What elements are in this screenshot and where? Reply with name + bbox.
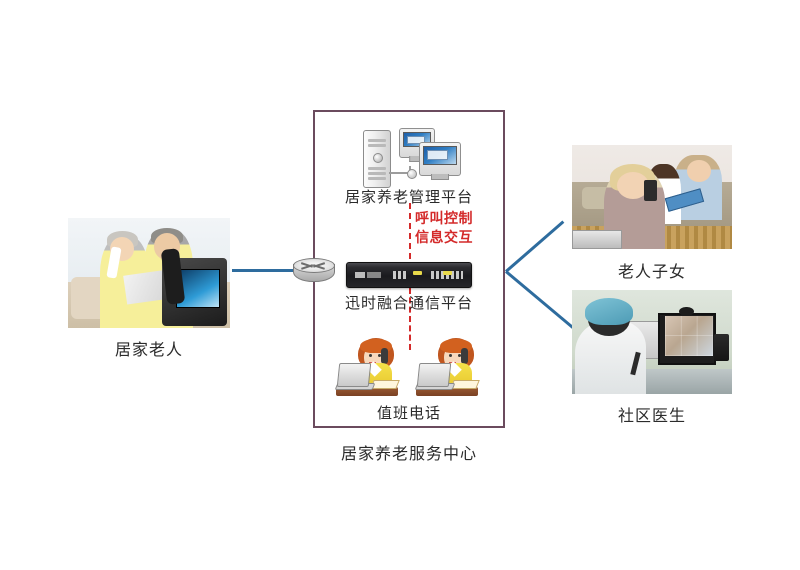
label-duty-phone: 值班电话 <box>313 402 505 423</box>
label-children: 老人子女 <box>572 258 732 282</box>
diagram-canvas: 呼叫控制 信息交互 居家养老管理平台 迅时融合通信平台 <box>0 0 800 570</box>
label-communication-platform: 迅时融合通信平台 <box>313 292 505 313</box>
monitor-front-icon <box>419 142 461 176</box>
annotation-call-control: 呼叫控制 信息交互 <box>415 210 473 248</box>
gateway-logo <box>355 272 381 278</box>
red-dashed-divider-upper <box>409 203 411 259</box>
label-doctor: 社区医生 <box>572 402 732 426</box>
annotation-call-control-line2: 信息交互 <box>415 229 473 248</box>
label-management-platform: 居家养老管理平台 <box>313 186 505 207</box>
link-node-icon <box>407 169 417 179</box>
link-elderly-to-router <box>232 269 294 272</box>
label-service-center: 居家养老服务中心 <box>303 440 515 464</box>
operator-left-icon <box>336 338 398 396</box>
gateway-appliance-icon <box>346 262 472 288</box>
link-center-to-children <box>505 221 564 273</box>
label-elderly: 居家老人 <box>68 336 230 360</box>
photo-doctor <box>572 290 732 394</box>
photo-children <box>572 145 732 249</box>
annotation-call-control-line1: 呼叫控制 <box>415 210 473 229</box>
server-icon <box>363 130 391 188</box>
photo-elderly-at-home <box>68 218 230 328</box>
router-icon <box>293 258 333 284</box>
server-and-workstations-icon <box>363 128 463 184</box>
operator-right-icon <box>416 338 478 396</box>
